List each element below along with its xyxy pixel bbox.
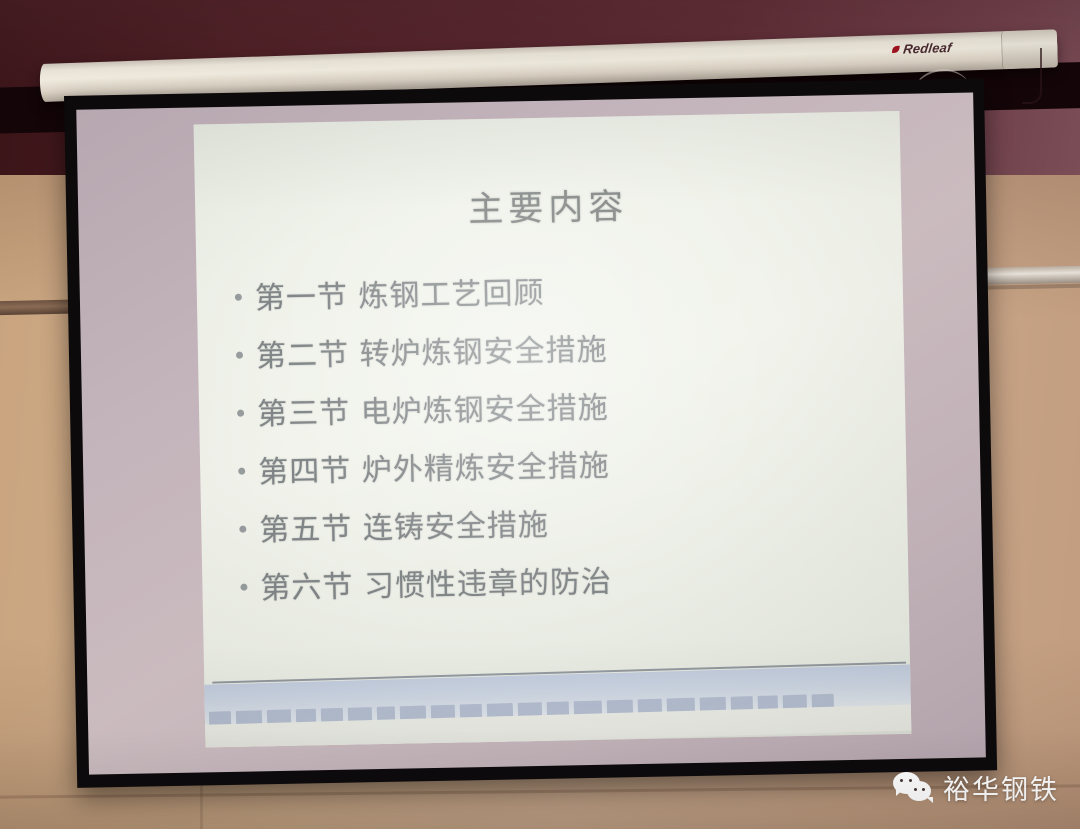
bullet-icon	[237, 410, 244, 417]
watermark: 裕华钢铁	[893, 768, 1059, 807]
roller-brand-logo: Redleaf	[891, 40, 952, 57]
leaf-icon	[892, 46, 900, 53]
bullet-icon	[236, 352, 243, 359]
bullet-icon	[238, 468, 245, 475]
screen-surface: 主要内容 第一节 炼钢工艺回顾 第二节 转炉炼钢安全措施 第三节 电炉炼钢安全措…	[76, 93, 986, 775]
list-item-label: 第四节 炉外精炼安全措施	[258, 441, 610, 492]
photo-scene: Redleaf 主要内容 第一节 炼钢工艺回顾 第二节 转炉炼钢安全措施	[0, 0, 1080, 829]
list-item-label: 第二节 转炉炼钢安全措施	[256, 325, 608, 376]
list-item-label: 第一节 炼钢工艺回顾	[254, 268, 544, 318]
slide-title: 主要内容	[195, 173, 902, 238]
list-item: 第六节 习惯性违章的防治	[240, 551, 881, 621]
bullet-icon	[239, 526, 246, 533]
bullet-icon	[235, 294, 242, 301]
list-item-label: 第六节 习惯性违章的防治	[260, 557, 612, 608]
roller-pull-cord	[1022, 48, 1042, 104]
projected-slide: 主要内容 第一节 炼钢工艺回顾 第二节 转炉炼钢安全措施 第三节 电炉炼钢安全措…	[194, 111, 912, 747]
slide-bullet-list: 第一节 炼钢工艺回顾 第二节 转炉炼钢安全措施 第三节 电炉炼钢安全措施 第四节…	[234, 261, 881, 621]
projection-screen: 主要内容 第一节 炼钢工艺回顾 第二节 转炉炼钢安全措施 第三节 电炉炼钢安全措…	[64, 78, 997, 788]
wechat-icon	[893, 772, 935, 804]
list-item-label: 第五节 连铸安全措施	[259, 500, 549, 550]
bullet-icon	[240, 584, 247, 591]
list-item-label: 第三节 电炉炼钢安全措施	[257, 383, 609, 434]
watermark-label: 裕华钢铁	[943, 768, 1059, 807]
brand-label: Redleaf	[902, 40, 952, 57]
